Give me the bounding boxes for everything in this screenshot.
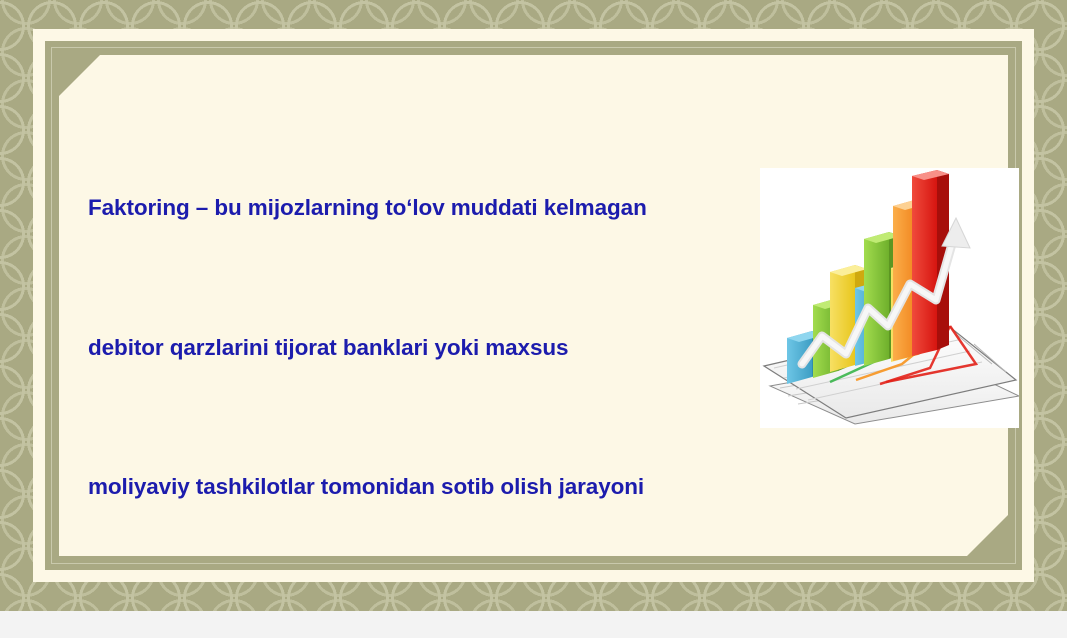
body-line-3: moliyaviy tashkilotlar tomonidan sotib o… xyxy=(88,464,748,511)
body-line-2: debitor qarzlarini tijorat banklari yoki… xyxy=(88,325,748,372)
slide-canvas: Faktoring – bu mijozlarning to‘lov mudda… xyxy=(0,0,1067,638)
bar-chart-illustration xyxy=(760,168,1019,428)
body-line-1: Faktoring – bu mijozlarning to‘lov mudda… xyxy=(88,185,748,232)
viewer-bottom-strip xyxy=(0,611,1067,638)
bar-chart-graphic xyxy=(760,168,1019,428)
slide-body-text: Faktoring – bu mijozlarning to‘lov mudda… xyxy=(88,92,748,638)
